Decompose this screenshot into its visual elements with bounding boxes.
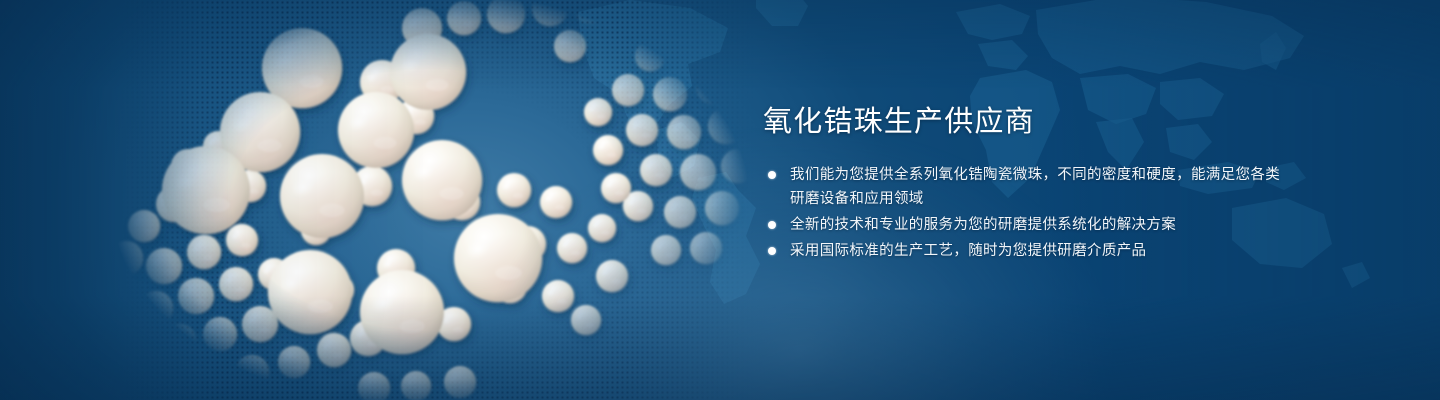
list-item: 我们能为您提供全系列氧化锆陶瓷微珠，不同的密度和硬度，能满足您各类研磨设备和应用… xyxy=(763,163,1283,211)
hero-banner: 氧化锆珠生产供应商 我们能为您提供全系列氧化锆陶瓷微珠，不同的密度和硬度，能满足… xyxy=(0,0,1440,400)
page-title: 氧化锆珠生产供应商 xyxy=(763,108,1283,137)
banner-copy: 氧化锆珠生产供应商 我们能为您提供全系列氧化锆陶瓷微珠，不同的密度和硬度，能满足… xyxy=(763,108,1283,265)
list-item: 全新的技术和专业的服务为您的研磨提供系统化的解决方案 xyxy=(763,213,1283,237)
list-item-label: 全新的技术和专业的服务为您的研磨提供系统化的解决方案 xyxy=(790,213,1283,237)
bullet-dot-icon xyxy=(768,247,776,255)
list-item-label: 我们能为您提供全系列氧化锆陶瓷微珠，不同的密度和硬度，能满足您各类研磨设备和应用… xyxy=(790,163,1283,211)
list-item: 采用国际标准的生产工艺，随时为您提供研磨介质产品 xyxy=(763,239,1283,263)
bullet-dot-icon xyxy=(768,171,776,179)
bullet-dot-icon xyxy=(768,221,776,229)
feature-list: 我们能为您提供全系列氧化锆陶瓷微珠，不同的密度和硬度，能满足您各类研磨设备和应用… xyxy=(763,163,1283,263)
list-item-label: 采用国际标准的生产工艺，随时为您提供研磨介质产品 xyxy=(790,239,1283,263)
